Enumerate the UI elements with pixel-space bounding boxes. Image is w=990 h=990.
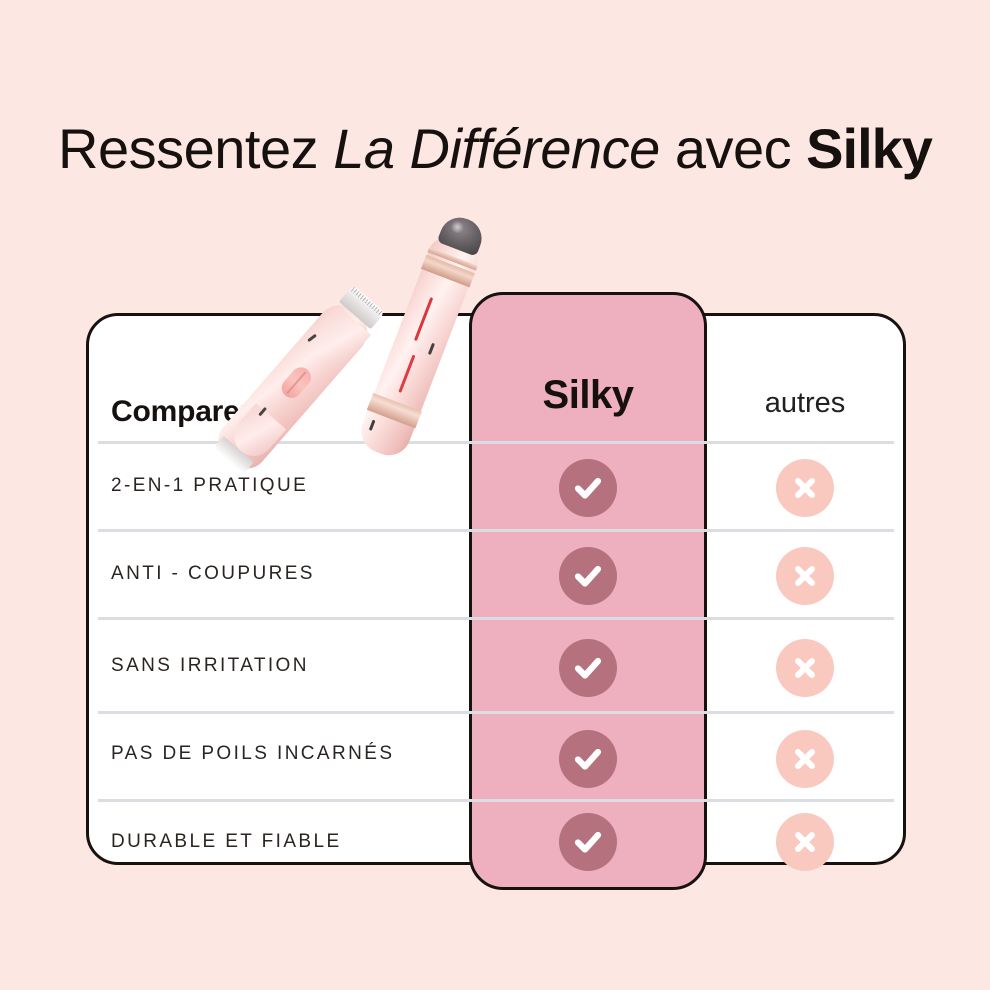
brand-column-highlight — [469, 292, 707, 890]
page-title-brand: Silky — [806, 117, 932, 180]
comparison-table: Comparer Silky autres 2-EN-1 PRATIQUE AN… — [86, 288, 908, 892]
page-title: Ressentez La Différence avec Silky — [0, 118, 990, 180]
page-title-part-1: Ressentez — [58, 117, 333, 180]
page-title-part-2-italic: La Différence — [333, 117, 660, 180]
page-title-part-3: avec — [660, 117, 806, 180]
